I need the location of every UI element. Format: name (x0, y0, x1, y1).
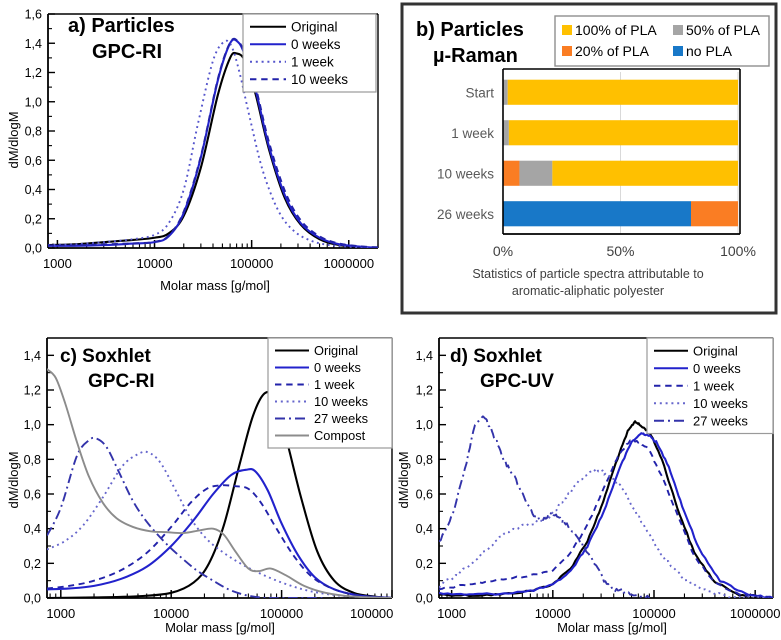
bar-segment[interactable] (509, 120, 738, 145)
panel-d-title-line1: d) Soxhlet (450, 346, 543, 367)
b-x-tick-label: 50% (606, 243, 634, 259)
panel-b-svg: b) Particles µ-Raman 100% of PLA50% of P… (400, 2, 778, 315)
y-tick-label: 0,8 (25, 125, 42, 139)
legend: Original0 weeks1 week10 weeks27 weeks (647, 338, 773, 434)
bar-segment[interactable] (503, 201, 691, 226)
bar-segment[interactable] (508, 80, 738, 105)
y-tick-label: 0,6 (24, 488, 41, 502)
x-tick-label: 100000 (350, 606, 393, 621)
bar-row[interactable] (503, 120, 738, 145)
legend-label: 10 weeks (314, 394, 368, 409)
x-tick-label: 1000000 (323, 256, 374, 271)
y-tick-label: 0,4 (416, 522, 433, 536)
legend-label: 0 weeks (314, 360, 361, 375)
b-legend-swatch (673, 46, 683, 56)
y-tick-label: 0,8 (416, 453, 433, 467)
b-x-tick-label: 0% (493, 243, 513, 259)
y-tick-label: 0,2 (24, 557, 41, 571)
bar-segment[interactable] (503, 161, 519, 186)
panel-b-caption-line1: Statistics of particle spectra attributa… (472, 267, 703, 281)
panel-a-ylabel: dM/dlogM (6, 111, 21, 168)
bar-segment[interactable] (691, 201, 738, 226)
panel-b-particles-raman: b) Particles µ-Raman 100% of PLA50% of P… (400, 2, 778, 315)
panel-b-caption-line2: aromatic-aliphatic polyester (512, 284, 664, 298)
y-tick-label: 1,0 (24, 418, 41, 432)
y-tick-label: 0,6 (25, 154, 42, 168)
y-tick-label: 0,0 (24, 592, 41, 606)
bar-category-label: 1 week (451, 126, 494, 141)
y-tick-label: 0,6 (416, 488, 433, 502)
panel-d-xlabel: Molar mass [g/mol] (557, 620, 667, 635)
y-tick-label: 1,6 (25, 8, 42, 22)
panel-c-soxhlet-gpc-ri: 0,00,20,40,60,81,01,21,41000100001000001… (0, 320, 400, 640)
legend-label: 1 week (693, 378, 735, 393)
bar-segment[interactable] (552, 161, 738, 186)
legend-label: 27 weeks (693, 413, 748, 428)
y-tick-label: 1,2 (24, 384, 41, 398)
bar-category-label: 26 weeks (437, 207, 494, 222)
bar-row[interactable] (503, 80, 738, 105)
y-tick-label: 1,0 (416, 418, 433, 432)
panel-c-svg: 0,00,20,40,60,81,01,21,41000100001000001… (0, 320, 400, 640)
panel-d-title-line2: GPC-UV (480, 371, 554, 392)
bar-row[interactable] (503, 201, 738, 226)
panel-c-title-line2: GPC-RI (88, 371, 155, 392)
legend-label: 0 weeks (291, 37, 341, 52)
y-tick-label: 0,4 (24, 522, 41, 536)
legend-label: Compost (314, 428, 366, 443)
panel-c-title-line1: c) Soxhlet (60, 346, 151, 367)
panel-b-title-line1: b) Particles (416, 19, 524, 41)
bar-segment[interactable] (503, 120, 509, 145)
panel-d-soxhlet-gpc-uv: 0,00,20,40,60,81,01,21,41000100001000001… (392, 320, 781, 640)
legend-label: 10 weeks (291, 72, 348, 87)
panel-a-particles-gpc-ri: 0,00,20,40,60,81,01,21,41,61000100001000… (0, 0, 396, 318)
x-tick-label: 1000000 (730, 606, 781, 621)
bar-category-label: 10 weeks (437, 166, 494, 181)
legend-label: 0 weeks (693, 361, 741, 376)
y-tick-label: 0,2 (416, 557, 433, 571)
x-tick-label: 1000 (437, 606, 466, 621)
panel-a-svg: 0,00,20,40,60,81,01,21,41,61000100001000… (0, 0, 396, 318)
x-tick-label: 100000 (260, 606, 303, 621)
panel-c-xlabel: Molar mass [g/mol] (165, 620, 275, 635)
y-tick-label: 1,4 (25, 37, 42, 51)
x-tick-label: 100000 (230, 256, 273, 271)
y-tick-label: 1,2 (25, 66, 42, 80)
x-tick-label: 1000 (46, 606, 75, 621)
legend-label: 27 weeks (314, 411, 368, 426)
panel-a-xlabel: Molar mass [g/mol] (160, 278, 270, 293)
y-tick-label: 0,8 (24, 453, 41, 467)
panel-d-ylabel: dM/dlogM (396, 451, 411, 508)
legend-label: 10 weeks (693, 396, 748, 411)
x-tick-label: 1000 (43, 256, 72, 271)
y-tick-label: 0,2 (25, 212, 42, 226)
b-legend-label: no PLA (686, 43, 733, 59)
x-tick-label: 10000 (153, 606, 189, 621)
legend-label: Original (291, 19, 338, 34)
b-legend-swatch (562, 46, 572, 56)
x-tick-label: 10000 (535, 606, 571, 621)
b-legend-swatch (673, 25, 683, 35)
figure-root: 0,00,20,40,60,81,01,21,41,61000100001000… (0, 0, 781, 640)
x-tick-label: 100000 (632, 606, 675, 621)
y-tick-label: 1,4 (24, 349, 41, 363)
bar-row[interactable] (503, 161, 738, 186)
x-tick-label: 10000 (136, 256, 172, 271)
y-tick-label: 1,2 (416, 384, 433, 398)
legend-label: Original (693, 343, 738, 358)
bar-category-label: Start (465, 85, 494, 100)
panel-a-title-line2: GPC-RI (92, 41, 162, 63)
b-legend-label: 100% of PLA (575, 22, 657, 38)
legend-label: 1 week (291, 54, 334, 69)
b-legend-swatch (562, 25, 572, 35)
y-tick-label: 0,0 (25, 242, 42, 256)
bar-segment[interactable] (519, 161, 552, 186)
b-x-tick-label: 100% (720, 243, 756, 259)
b-legend-label: 20% of PLA (575, 43, 650, 59)
y-tick-label: 0,4 (25, 183, 42, 197)
legend-label: Original (314, 343, 358, 358)
b-legend-label: 50% of PLA (686, 22, 761, 38)
legend: Original0 weeks1 week10 weeks (243, 14, 376, 92)
panel-c-ylabel: dM/dlogM (6, 451, 21, 508)
y-tick-label: 0,0 (416, 592, 433, 606)
panel-d-svg: 0,00,20,40,60,81,01,21,41000100001000001… (392, 320, 781, 640)
y-tick-label: 1,4 (416, 349, 433, 363)
legend: Original0 weeks1 week10 weeks27 weeksCom… (268, 338, 392, 448)
panel-b-title-line2: µ-Raman (433, 45, 518, 67)
panel-a-title-line1: a) Particles (68, 15, 175, 37)
y-tick-label: 1,0 (25, 95, 42, 109)
legend-label: 1 week (314, 377, 355, 392)
